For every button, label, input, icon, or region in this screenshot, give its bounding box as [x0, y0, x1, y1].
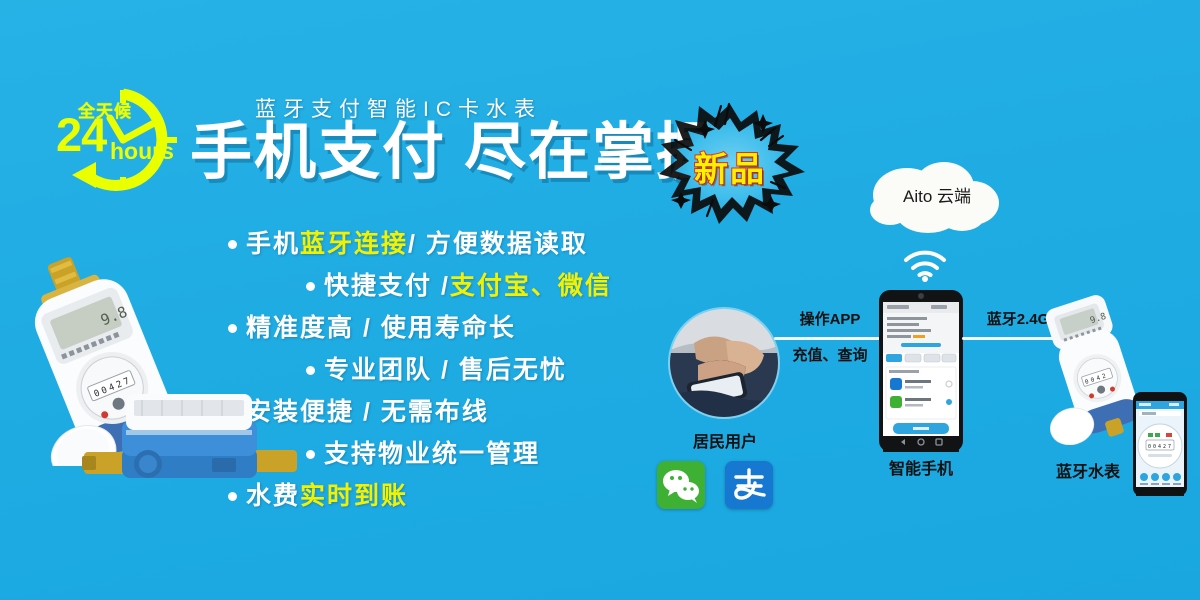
payment-app-icons: [657, 461, 773, 509]
feature-text-pre: 快捷支付 /: [324, 274, 450, 299]
badge-number: 24: [56, 111, 106, 158]
feature-item: 手机蓝牙连接 / 方便数据读取: [228, 232, 698, 257]
new-product-label: 新品: [645, 142, 815, 191]
feature-item: 专业团队 / 售后无忧: [228, 358, 698, 383]
feature-item: 安装便捷 / 无需布线: [228, 400, 698, 425]
bullet-dot-icon: [306, 282, 315, 291]
alipay-icon[interactable]: [725, 461, 773, 509]
feature-list: 手机蓝牙连接 / 方便数据读取 快捷支付 / 支付宝、微信 精准度高 / 使用寿…: [228, 232, 698, 526]
new-product-badge: 新品: [645, 96, 815, 226]
valve-control-water-meter-image: [82, 380, 297, 510]
headline-part-1: 手机支付: [190, 118, 446, 187]
cloud-label: Aito 云端: [862, 182, 1012, 207]
smartphone-payment-app: [879, 290, 963, 452]
meter-reading-app-phone: 004 27: [1133, 392, 1187, 496]
feature-text-pre: 支持物业统一管理: [324, 442, 540, 467]
svg-text:0: 0: [1148, 444, 1151, 450]
svg-text:2: 2: [1163, 444, 1166, 450]
wechat-glyph: [657, 461, 705, 509]
bullet-dot-icon: [306, 450, 315, 459]
all-day-service-badge: 全天候 24 hours: [48, 84, 198, 196]
bullet-dot-icon: [228, 324, 237, 333]
svg-text:0: 0: [1153, 444, 1156, 450]
flow-connector-line: [774, 337, 886, 340]
feature-item: 水费实时到账: [228, 484, 698, 509]
feature-text-highlight: 实时到账: [300, 484, 408, 509]
alipay-glyph: [725, 461, 773, 509]
resident-user-caption: 居民用户: [650, 428, 800, 452]
svg-text:4: 4: [1158, 444, 1161, 450]
feature-text-post: / 方便数据读取: [408, 232, 588, 257]
wifi-icon: [902, 248, 948, 282]
feature-text-pre: 手机: [246, 232, 300, 257]
wechat-icon[interactable]: [657, 461, 705, 509]
smartphone-caption: 智能手机: [861, 455, 981, 479]
feature-item: 支持物业统一管理: [228, 442, 698, 467]
bullet-dot-icon: [306, 366, 315, 375]
bluetooth-water-meter-caption: 蓝牙水表: [1028, 458, 1148, 482]
svg-text:7: 7: [1168, 444, 1171, 450]
banner-headline: 手机支付尽在掌握: [190, 122, 720, 184]
feature-item: 精准度高 / 使用寿命长: [228, 316, 698, 341]
flow-operate-app: 操作APP 充值、查询: [770, 312, 890, 364]
resident-user-photo: [668, 307, 780, 419]
bullet-dot-icon: [228, 240, 237, 249]
flow-operate-app-bottom: 充值、查询: [770, 348, 890, 365]
feature-text-highlight: 蓝牙连接: [300, 232, 408, 257]
feature-text-highlight: 支付宝、微信: [450, 274, 612, 299]
badge-unit: hours: [110, 140, 174, 163]
feature-item: 快捷支付 / 支付宝、微信: [228, 274, 698, 299]
feature-text-pre: 专业团队 / 售后无忧: [324, 358, 567, 383]
promo-banner: 全天候 24 hours 蓝牙支付智能IC卡水表 手机支付尽在掌握: [0, 0, 1200, 600]
feature-text-pre: 精准度高 / 使用寿命长: [246, 316, 516, 341]
flow-operate-app-top: 操作APP: [770, 312, 890, 329]
